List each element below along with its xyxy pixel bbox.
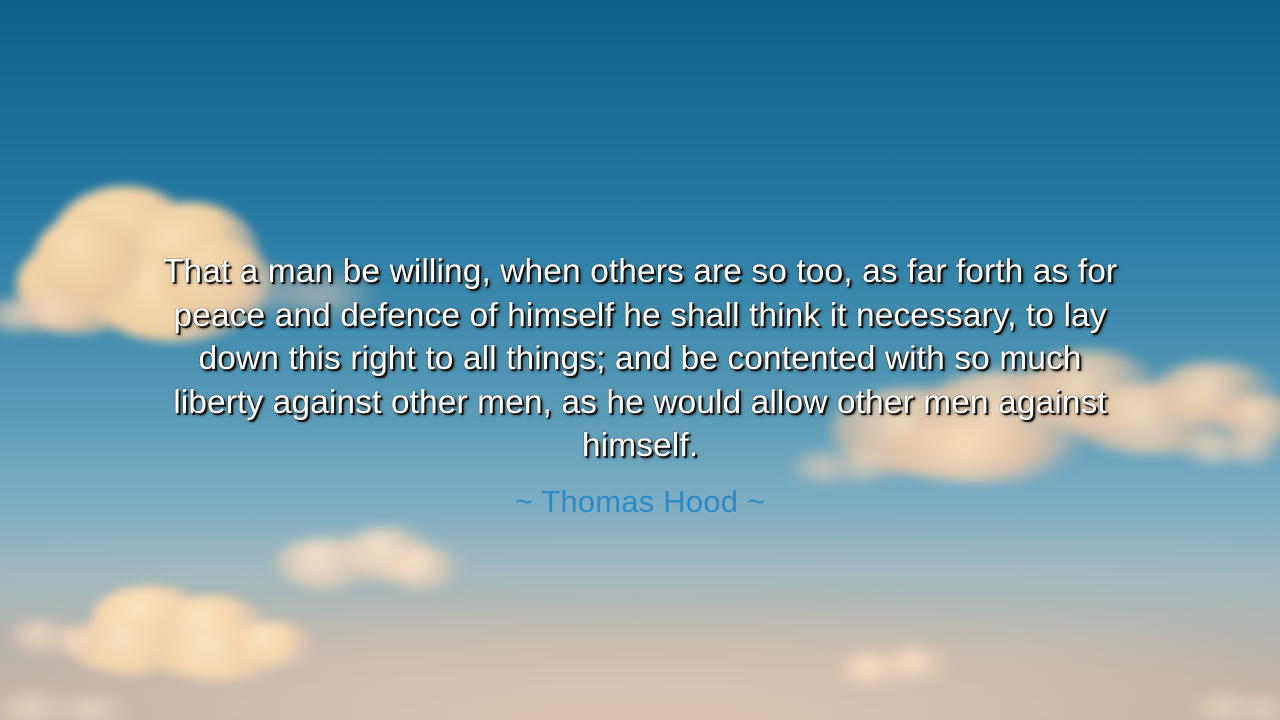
quote-attribution: ~ Thomas Hood ~ — [515, 468, 766, 522]
quote-body-text: That a man be willing, when others are s… — [110, 250, 1170, 468]
quote-overlay: That a man be willing, when others are s… — [0, 0, 1280, 720]
quote-card: That a man be willing, when others are s… — [0, 0, 1280, 720]
